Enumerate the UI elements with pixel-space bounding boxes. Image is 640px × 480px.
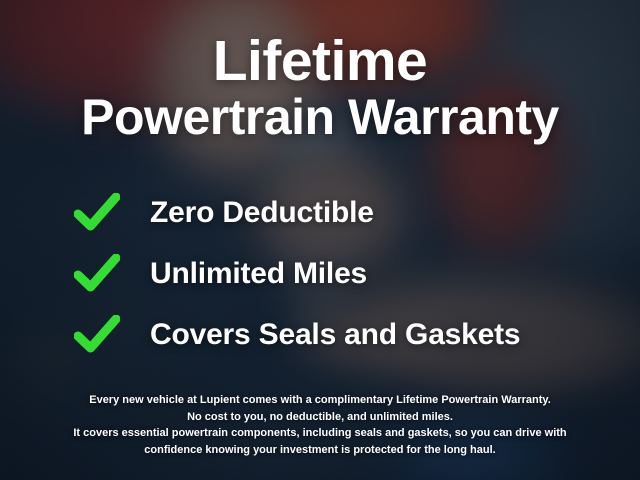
fineprint-line: No cost to you, no deductible, and unlim… [30, 409, 610, 426]
benefit-label: Covers Seals and Gaskets [150, 318, 520, 352]
benefit-label: Unlimited Miles [150, 257, 367, 291]
benefits-list: Zero Deductible Unlimited Miles Covers S… [74, 182, 594, 365]
list-item: Covers Seals and Gaskets [74, 304, 594, 365]
fineprint-block: Every new vehicle at Lupient comes with … [30, 392, 610, 458]
fineprint-line: confidence knowing your investment is pr… [30, 442, 610, 459]
page-title-line1: Lifetime [0, 30, 640, 92]
check-icon [74, 254, 120, 294]
benefit-label: Zero Deductible [150, 196, 374, 230]
check-icon [74, 193, 120, 233]
warranty-promo-banner: Lifetime Powertrain Warranty Zero Deduct… [0, 0, 640, 480]
list-item: Zero Deductible [74, 182, 594, 243]
fineprint-line: Every new vehicle at Lupient comes with … [30, 392, 610, 409]
check-icon [74, 315, 120, 355]
page-title-line2: Powertrain Warranty [0, 89, 640, 145]
list-item: Unlimited Miles [74, 243, 594, 304]
fineprint-line: It covers essential powertrain component… [30, 425, 610, 442]
